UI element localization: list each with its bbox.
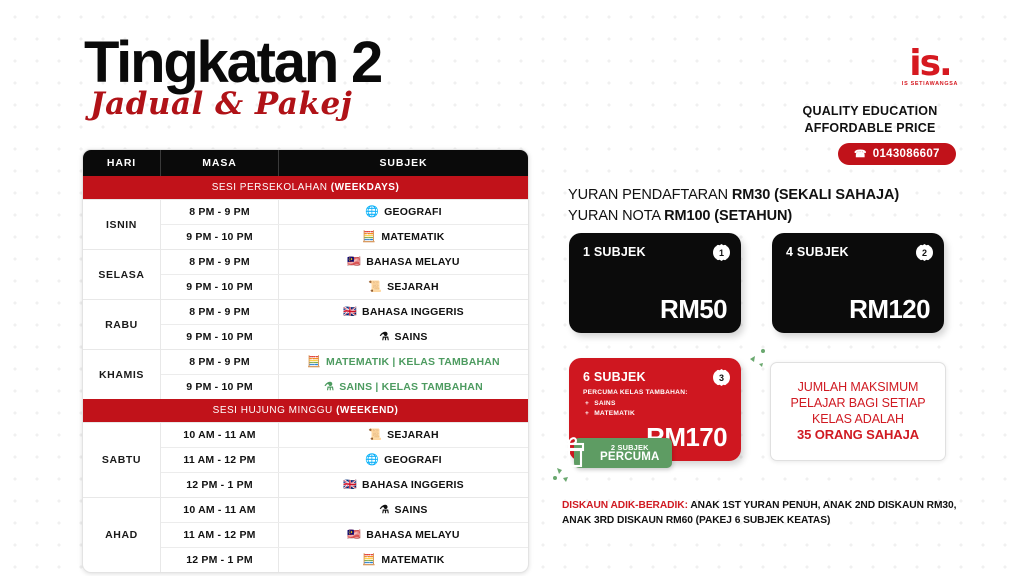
phone-number: 0143086607 xyxy=(873,148,940,160)
sibling-discount-note: DISKAUN ADIK-BERADIK: ANAK 1ST YURAN PEN… xyxy=(562,499,962,529)
table-row: 8 PM - 9 PM🇲🇾BAHASA MELAYU xyxy=(161,250,528,274)
table-row: 8 PM - 9 PM🧮MATEMATIK | KELAS TAMBAHAN xyxy=(161,350,528,374)
subject-cell: 🇲🇾BAHASA MELAYU xyxy=(279,250,528,274)
subject-cell: ⚗SAINS xyxy=(279,325,528,349)
table-row: 12 PM - 1 PM🧮MATEMATIK xyxy=(161,547,528,572)
time-slot: 9 PM - 10 PM xyxy=(161,275,279,299)
math-symbols-icon: 🧮 xyxy=(362,555,376,566)
table-row: 11 AM - 12 PM🇲🇾BAHASA MELAYU xyxy=(161,522,528,547)
page-title-block: Tingkatan 2 Jadual & Pakej xyxy=(84,34,381,122)
max-students-notice: JUMLAH MAKSIMUM PELAJAR BAGI SETIAP KELA… xyxy=(770,362,946,461)
package-price: RM120 xyxy=(849,294,930,325)
flask-icon: ⚗ xyxy=(324,382,334,393)
subject-cell: ⚗SAINS | KELAS TAMBAHAN xyxy=(279,375,528,399)
time-slot: 12 PM - 1 PM xyxy=(161,548,279,572)
section-label-bold: (WEEKEND) xyxy=(336,405,398,416)
package-badge: 1 xyxy=(713,244,730,261)
day-label: RABU xyxy=(83,300,161,349)
time-slot: 8 PM - 9 PM xyxy=(161,350,279,374)
logo-mark: is. xyxy=(880,48,980,80)
package-name: 4 SUBJEK xyxy=(786,245,849,259)
malaysia-flag-icon: 🇲🇾 xyxy=(347,530,361,541)
subject-name: MATEMATIK | KELAS TAMBAHAN xyxy=(326,356,500,368)
math-symbols-icon: 🧮 xyxy=(307,357,321,368)
max-students-highlight: 35 ORANG SAHAJA xyxy=(797,427,919,444)
table-row: 9 PM - 10 PM📜SEJARAH xyxy=(161,274,528,299)
subject-name: MATEMATIK xyxy=(381,231,444,243)
max-students-line-2: PELAJAR BAGI SETIAP xyxy=(791,395,926,411)
gift-tag-line-2: PERCUMA xyxy=(600,451,660,463)
page-subtitle: Jadual & Pakej xyxy=(90,86,381,122)
subject-name: BAHASA INGGERIS xyxy=(362,479,464,491)
gift-icon xyxy=(550,432,590,472)
package-badge: 3 xyxy=(713,369,730,386)
package-perk-item: SAINS xyxy=(583,399,688,409)
sibling-discount-label: DISKAUN ADIK-BERADIK: xyxy=(562,500,688,511)
schedule-day-group: KHAMIS8 PM - 9 PM🧮MATEMATIK | KELAS TAMB… xyxy=(83,349,528,399)
fee-registration-value: RM30 (SEKALI SAHAJA) xyxy=(732,187,899,203)
time-slot: 11 AM - 12 PM xyxy=(161,448,279,472)
fee-registration-label: YURAN PENDAFTARAN xyxy=(568,187,732,203)
package-perks: PERCUMA KELAS TAMBAHAN: SAINSMATEMATIK xyxy=(583,388,688,420)
schedule-table: HARI MASA SUBJEK SESI PERSEKOLAHAN (WEEK… xyxy=(82,149,529,573)
schedule-day-group: AHAD10 AM - 11 AM⚗SAINS11 AM - 12 PM🇲🇾BA… xyxy=(83,497,528,572)
time-slot: 11 AM - 12 PM xyxy=(161,523,279,547)
day-rows: 8 PM - 9 PM🌐GEOGRAFI9 PM - 10 PM🧮MATEMAT… xyxy=(161,200,528,249)
fee-notes: YURAN NOTA RM100 (SETAHUN) xyxy=(568,206,899,227)
gift-promo-tag: 2 SUBJEK PERCUMA xyxy=(574,438,672,468)
subject-name: BAHASA MELAYU xyxy=(366,256,459,268)
time-slot: 10 AM - 11 AM xyxy=(161,498,279,522)
schedule-day-group: RABU8 PM - 9 PM🇬🇧BAHASA INGGERIS9 PM - 1… xyxy=(83,299,528,349)
table-row: 9 PM - 10 PM🧮MATEMATIK xyxy=(161,224,528,249)
day-label: SABTU xyxy=(83,423,161,497)
subject-name: SEJARAH xyxy=(387,429,439,441)
schedule-day-group: SABTU10 AM - 11 AM📜SEJARAH11 AM - 12 PM🌐… xyxy=(83,422,528,497)
subject-name: GEOGRAFI xyxy=(384,206,442,218)
table-row: 11 AM - 12 PM🌐GEOGRAFI xyxy=(161,447,528,472)
time-slot: 10 AM - 11 AM xyxy=(161,423,279,447)
subject-cell: 🧮MATEMATIK | KELAS TAMBAHAN xyxy=(279,350,528,374)
max-students-line-1: JUMLAH MAKSIMUM xyxy=(798,379,919,395)
day-label: AHAD xyxy=(83,498,161,572)
scroll-icon: 📜 xyxy=(368,282,382,293)
tagline-line-2: AFFORDABLE PRICE xyxy=(760,120,980,137)
malaysia-flag-icon: 🇲🇾 xyxy=(347,257,361,268)
subject-name: BAHASA MELAYU xyxy=(366,529,459,541)
schedule-day-group: SELASA8 PM - 9 PM🇲🇾BAHASA MELAYU9 PM - 1… xyxy=(83,249,528,299)
day-rows: 8 PM - 9 PM🇲🇾BAHASA MELAYU9 PM - 10 PM📜S… xyxy=(161,250,528,299)
table-body: SESI PERSEKOLAHAN (WEEKDAYS)ISNIN8 PM - … xyxy=(83,176,528,572)
subject-cell: 🇲🇾BAHASA MELAYU xyxy=(279,523,528,547)
time-slot: 9 PM - 10 PM xyxy=(161,325,279,349)
column-header-subjek: SUBJEK xyxy=(279,150,528,176)
subject-name: SAINS | KELAS TAMBAHAN xyxy=(339,381,483,393)
day-rows: 8 PM - 9 PM🧮MATEMATIK | KELAS TAMBAHAN9 … xyxy=(161,350,528,399)
globe-icon: 🌐 xyxy=(365,207,379,218)
fee-registration: YURAN PENDAFTARAN RM30 (SEKALI SAHAJA) xyxy=(568,185,899,206)
package-card-4-subjek[interactable]: 4 SUBJEK 2 RM120 xyxy=(772,233,944,333)
time-slot: 8 PM - 9 PM xyxy=(161,300,279,324)
confetti-decoration xyxy=(746,345,772,371)
subject-cell: 🧮MATEMATIK xyxy=(279,548,528,572)
subject-cell: 🇬🇧BAHASA INGGERIS xyxy=(279,473,528,497)
scroll-icon: 📜 xyxy=(368,430,382,441)
subject-name: BAHASA INGGERIS xyxy=(362,306,464,318)
table-row: 8 PM - 9 PM🇬🇧BAHASA INGGERIS xyxy=(161,300,528,324)
subject-cell: 📜SEJARAH xyxy=(279,275,528,299)
logo-subtext: IS SETIAWANGSA xyxy=(880,81,980,87)
day-label: KHAMIS xyxy=(83,350,161,399)
brand-logo: is. IS SETIAWANGSA xyxy=(880,48,980,87)
schedule-day-group: ISNIN8 PM - 9 PM🌐GEOGRAFI9 PM - 10 PM🧮MA… xyxy=(83,199,528,249)
section-label: SESI HUJUNG MINGGU xyxy=(213,405,336,416)
time-slot: 9 PM - 10 PM xyxy=(161,375,279,399)
uk-flag-icon: 🇬🇧 xyxy=(343,307,357,318)
time-slot: 8 PM - 9 PM xyxy=(161,250,279,274)
subject-cell: 🌐GEOGRAFI xyxy=(279,200,528,224)
time-slot: 12 PM - 1 PM xyxy=(161,473,279,497)
poster-canvas: Tingkatan 2 Jadual & Pakej HARI MASA SUB… xyxy=(0,0,1024,576)
subject-cell: 🧮MATEMATIK xyxy=(279,225,528,249)
day-label: SELASA xyxy=(83,250,161,299)
day-rows: 8 PM - 9 PM🇬🇧BAHASA INGGERIS9 PM - 10 PM… xyxy=(161,300,528,349)
schedule-section-header: SESI PERSEKOLAHAN (WEEKDAYS) xyxy=(83,176,528,199)
subject-cell: 📜SEJARAH xyxy=(279,423,528,447)
table-header-row: HARI MASA SUBJEK xyxy=(83,150,528,176)
package-perks-title: PERCUMA KELAS TAMBAHAN: xyxy=(583,388,688,398)
tagline-line-1: QUALITY EDUCATION xyxy=(760,103,980,120)
subject-cell: 🌐GEOGRAFI xyxy=(279,448,528,472)
subject-name: GEOGRAFI xyxy=(384,454,442,466)
package-card-1-subjek[interactable]: 1 SUBJEK 1 RM50 xyxy=(569,233,741,333)
subject-name: SAINS xyxy=(394,504,427,516)
uk-flag-icon: 🇬🇧 xyxy=(343,480,357,491)
flask-icon: ⚗ xyxy=(379,332,389,343)
brand-tagline: QUALITY EDUCATION AFFORDABLE PRICE xyxy=(760,103,980,137)
package-price: RM50 xyxy=(660,294,727,325)
max-students-line-3: KELAS ADALAH xyxy=(812,411,904,427)
page-title: Tingkatan 2 xyxy=(84,34,381,92)
subject-name: SAINS xyxy=(394,331,427,343)
package-badge: 2 xyxy=(916,244,933,261)
package-perks-list: SAINSMATEMATIK xyxy=(583,399,688,419)
section-label-bold: (WEEKDAYS) xyxy=(331,182,400,193)
table-row: 9 PM - 10 PM⚗SAINS xyxy=(161,324,528,349)
table-row: 10 AM - 11 AM📜SEJARAH xyxy=(161,423,528,447)
package-name: 1 SUBJEK xyxy=(583,245,646,259)
fees-block: YURAN PENDAFTARAN RM30 (SEKALI SAHAJA) Y… xyxy=(568,185,899,227)
table-row: 10 AM - 11 AM⚗SAINS xyxy=(161,498,528,522)
phone-icon: ☎ xyxy=(854,149,867,160)
globe-icon: 🌐 xyxy=(365,455,379,466)
subject-name: SEJARAH xyxy=(387,281,439,293)
math-symbols-icon: 🧮 xyxy=(362,232,376,243)
day-rows: 10 AM - 11 AM⚗SAINS11 AM - 12 PM🇲🇾BAHASA… xyxy=(161,498,528,572)
column-header-masa: MASA xyxy=(161,150,279,176)
day-rows: 10 AM - 11 AM📜SEJARAH11 AM - 12 PM🌐GEOGR… xyxy=(161,423,528,497)
subject-cell: ⚗SAINS xyxy=(279,498,528,522)
time-slot: 9 PM - 10 PM xyxy=(161,225,279,249)
schedule-section-header: SESI HUJUNG MINGGU (WEEKEND) xyxy=(83,399,528,422)
fee-notes-value: RM100 (SETAHUN) xyxy=(664,208,792,224)
time-slot: 8 PM - 9 PM xyxy=(161,200,279,224)
package-perk-item: MATEMATIK xyxy=(583,409,688,419)
table-row: 8 PM - 9 PM🌐GEOGRAFI xyxy=(161,200,528,224)
section-label: SESI PERSEKOLAHAN xyxy=(212,182,331,193)
phone-call-button[interactable]: ☎ 0143086607 xyxy=(838,143,956,165)
subject-name: MATEMATIK xyxy=(381,554,444,566)
fee-notes-label: YURAN NOTA xyxy=(568,208,664,224)
subject-cell: 🇬🇧BAHASA INGGERIS xyxy=(279,300,528,324)
table-row: 12 PM - 1 PM🇬🇧BAHASA INGGERIS xyxy=(161,472,528,497)
column-header-hari: HARI xyxy=(83,150,161,176)
table-row: 9 PM - 10 PM⚗SAINS | KELAS TAMBAHAN xyxy=(161,374,528,399)
package-name: 6 SUBJEK xyxy=(583,370,646,384)
day-label: ISNIN xyxy=(83,200,161,249)
flask-icon: ⚗ xyxy=(379,505,389,516)
